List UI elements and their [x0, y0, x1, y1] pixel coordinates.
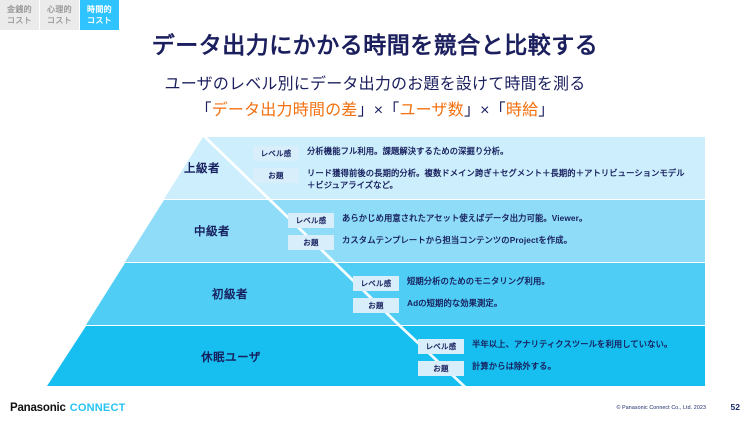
pyramid-info-intermediate: レベル感 あらかじめ用意されたアセット使えばデータ出力可能。Viewer。 お題… [288, 200, 708, 262]
info-row-level-advanced: レベル感 分析機能フル利用。課題解決するための深掘り分析。 [253, 145, 703, 161]
pyramid-label-intermediate: 中級者 [152, 200, 272, 262]
desc-level-advanced: 分析機能フル利用。課題解決するための深掘り分析。 [307, 145, 509, 157]
pyramid-label-dormant: 休眠ユーザ [96, 326, 366, 388]
subtitle-bracket-close-3: 」 [538, 102, 554, 119]
info-row-topic-advanced: お題 リード獲得前後の長期的分析。複数ドメイン跨ぎ＋セグメント＋長期的＋アトリビ… [253, 167, 703, 191]
page-title: データ出力にかかる時間を競合と比較する [0, 26, 750, 60]
chip-level-advanced: レベル感 [253, 146, 299, 161]
page-number: 52 [731, 402, 740, 412]
info-row-topic-beginner: お題 Adの短期的な効果測定。 [353, 297, 713, 313]
desc-topic-dormant: 計算からは除外する。 [472, 360, 556, 372]
logo-panasonic-text: Panasonic [10, 402, 66, 414]
chip-topic-advanced: お題 [253, 168, 299, 183]
subtitle-bracket-close-1: 」×「 [358, 102, 400, 119]
pyramid-label-advanced: 上級者 [166, 137, 238, 199]
chip-level-intermediate: レベル感 [288, 213, 334, 228]
pyramid-row-intermediate[interactable]: 中級者 レベル感 あらかじめ用意されたアセット使えばデータ出力可能。Viewer… [0, 200, 750, 262]
info-row-level-intermediate: レベル感 あらかじめ用意されたアセット使えばデータ出力可能。Viewer。 [288, 212, 708, 228]
info-row-level-dormant: レベル感 半年以上、アナリティクスツールを利用していない。 [418, 338, 718, 354]
copyright-text: © Panasonic Connect Co., Ltd. 2023 [617, 405, 706, 411]
subtitle-highlight-user-count: ユーザ数 [399, 102, 463, 119]
panasonic-connect-logo: Panasonic CONNECT [10, 402, 126, 414]
pyramid-row-dormant[interactable]: 休眠ユーザ レベル感 半年以上、アナリティクスツールを利用していない。 お題 計… [0, 326, 750, 388]
tab-psychological-cost-line2: コスト [47, 15, 72, 26]
tab-time-cost-line2: コスト [87, 15, 112, 26]
pyramid-info-beginner: レベル感 短期分析のためのモニタリング利用。 お題 Adの短期的な効果測定。 [353, 263, 713, 325]
tab-monetary-cost-line1: 金銭的 [7, 4, 32, 15]
logo-connect-text: CONNECT [70, 402, 126, 414]
chip-level-beginner: レベル感 [353, 276, 399, 291]
page-subtitle: ユーザのレベル別にデータ出力のお題を設けて時間を測る 「データ出力時間の差」×「… [0, 72, 750, 124]
subtitle-line-1: ユーザのレベル別にデータ出力のお題を設けて時間を測る [0, 72, 750, 98]
desc-level-dormant: 半年以上、アナリティクスツールを利用していない。 [472, 338, 672, 350]
desc-topic-beginner: Adの短期的な効果測定。 [407, 297, 502, 309]
desc-level-beginner: 短期分析のためのモニタリング利用。 [407, 275, 550, 287]
chip-topic-dormant: お題 [418, 361, 464, 376]
subtitle-highlight-output-time-diff: データ出力時間の差 [212, 102, 358, 119]
pyramid-info-advanced: レベル感 分析機能フル利用。課題解決するための深掘り分析。 お題 リード獲得前後… [253, 137, 703, 199]
chip-topic-beginner: お題 [353, 298, 399, 313]
desc-topic-intermediate: カスタムテンプレートから担当コンテンツのProjectを作成。 [342, 234, 572, 246]
pyramid-row-beginner[interactable]: 初級者 レベル感 短期分析のためのモニタリング利用。 お題 Adの短期的な効果測… [0, 263, 750, 325]
tab-time-cost-line1: 時間的 [87, 4, 112, 15]
info-row-topic-dormant: お題 計算からは除外する。 [418, 360, 718, 376]
subtitle-highlight-hourly-wage: 時給 [506, 102, 538, 119]
info-row-level-beginner: レベル感 短期分析のためのモニタリング利用。 [353, 275, 713, 291]
desc-level-intermediate: あらかじめ用意されたアセット使えばデータ出力可能。Viewer。 [342, 212, 587, 224]
desc-topic-advanced: リード獲得前後の長期的分析。複数ドメイン跨ぎ＋セグメント＋長期的＋アトリビューシ… [307, 167, 692, 191]
subtitle-bracket-close-2: 」×「 [464, 102, 506, 119]
pyramid-info-dormant: レベル感 半年以上、アナリティクスツールを利用していない。 お題 計算からは除外… [418, 326, 718, 388]
pyramid-label-beginner: 初級者 [130, 263, 330, 325]
slide-root: 金銭的 コスト 心理的 コスト 時間的 コスト データ出力にかかる時間を競合と比… [0, 0, 750, 422]
info-row-topic-intermediate: お題 カスタムテンプレートから担当コンテンツのProjectを作成。 [288, 234, 708, 250]
pyramid-chart: 上級者 レベル感 分析機能フル利用。課題解決するための深掘り分析。 お題 リード… [0, 137, 750, 387]
subtitle-line-2: 「データ出力時間の差」×「ユーザ数」×「時給」 [0, 98, 750, 124]
pyramid-row-advanced[interactable]: 上級者 レベル感 分析機能フル利用。課題解決するための深掘り分析。 お題 リード… [0, 137, 750, 199]
tab-monetary-cost-line2: コスト [7, 15, 32, 26]
chip-topic-intermediate: お題 [288, 235, 334, 250]
tab-psychological-cost-line1: 心理的 [47, 4, 72, 15]
chip-level-dormant: レベル感 [418, 339, 464, 354]
subtitle-bracket-open-1: 「 [195, 102, 211, 119]
